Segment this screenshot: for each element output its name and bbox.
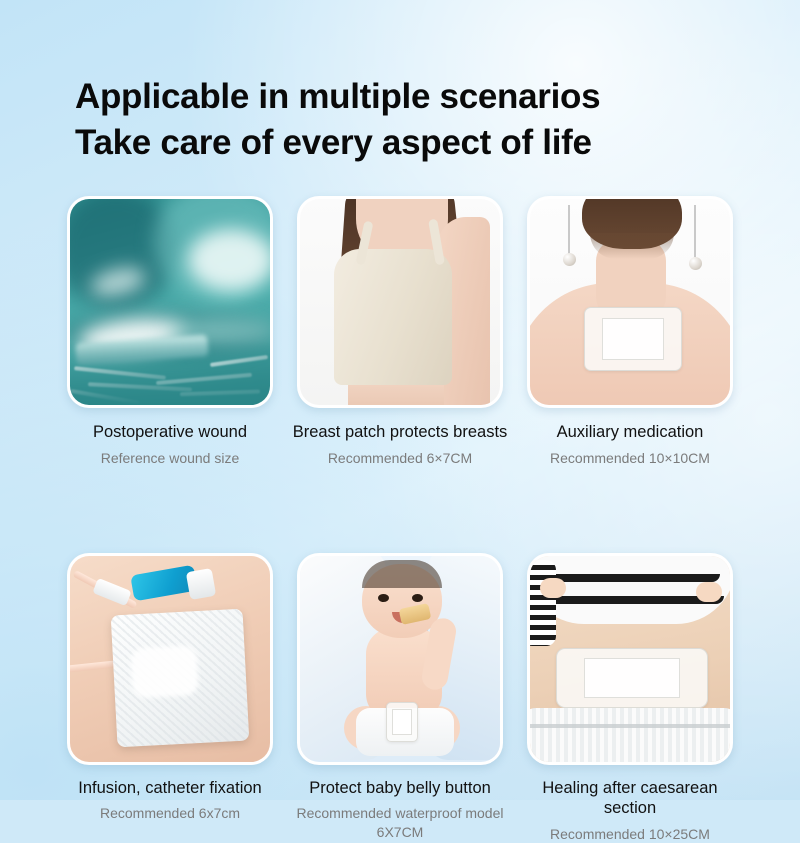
scenario-row-2: Infusion, catheter fixation Recommended …	[0, 553, 800, 843]
neck-patch-image	[530, 199, 730, 405]
card-title: Postoperative wound	[55, 422, 285, 443]
scenario-card-caesarean-healing[interactable]: Healing after caesarean section Recommen…	[530, 553, 730, 843]
scenario-card-auxiliary-medication[interactable]: Auxiliary medication Recommended 10×10CM	[530, 196, 730, 467]
woman-torso-image	[300, 199, 500, 405]
card-title: Auxiliary medication	[515, 422, 745, 443]
scenario-card-breast-patch[interactable]: Breast patch protects breasts Recommende…	[300, 196, 500, 467]
belly-patch	[386, 702, 418, 742]
earring-pearl-right	[689, 257, 702, 270]
card-subtitle: Recommended 10×10CM	[515, 449, 745, 467]
card-subtitle: Recommended 10×25CM	[515, 825, 745, 843]
card-subtitle: Recommended 6×7CM	[285, 449, 515, 467]
card-subtitle: Reference wound size	[55, 449, 285, 467]
card-caption: Infusion, catheter fixation Recommended …	[55, 778, 285, 823]
caesarean-patch	[556, 648, 708, 708]
card-caption: Protect baby belly button Recommended wa…	[285, 778, 515, 841]
card-caption: Auxiliary medication Recommended 10×10CM	[515, 422, 745, 467]
scenario-row-1: Postoperative wound Reference wound size	[0, 196, 800, 467]
card-subtitle: Recommended waterproof model 6X7CM	[285, 804, 515, 840]
wound-patch	[584, 307, 682, 371]
scenario-card-baby-belly-button[interactable]: Protect baby belly button Recommended wa…	[300, 553, 500, 843]
card-image-frame	[67, 196, 273, 408]
scenario-grid: Postoperative wound Reference wound size	[0, 196, 800, 843]
headline-line-2: Take care of every aspect of life	[75, 120, 735, 166]
card-subtitle: Recommended 6x7cm	[55, 804, 285, 822]
card-image-frame	[67, 553, 273, 765]
card-image-frame	[527, 196, 733, 408]
caesarean-patch-image	[530, 556, 730, 762]
card-caption: Breast patch protects breasts Recommende…	[285, 422, 515, 467]
card-image-frame	[527, 553, 733, 765]
card-title: Breast patch protects breasts	[285, 422, 515, 443]
card-caption: Postoperative wound Reference wound size	[55, 422, 285, 467]
catheter-dressing-image	[70, 556, 270, 762]
card-title: Protect baby belly button	[285, 778, 515, 799]
card-caption: Healing after caesarean section Recommen…	[515, 778, 745, 843]
baby-image	[300, 556, 500, 762]
earring-pearl-left	[563, 253, 576, 266]
scenario-card-postoperative-wound[interactable]: Postoperative wound Reference wound size	[70, 196, 270, 467]
infographic-page: Applicable in multiple scenarios Take ca…	[0, 0, 800, 800]
wound-dressing	[111, 608, 250, 747]
headline-line-1: Applicable in multiple scenarios	[75, 74, 735, 120]
scenario-card-infusion-catheter[interactable]: Infusion, catheter fixation Recommended …	[70, 553, 270, 843]
card-title: Healing after caesarean section	[515, 778, 745, 819]
page-title: Applicable in multiple scenarios Take ca…	[75, 74, 735, 166]
operating-room-image	[70, 199, 270, 405]
card-title: Infusion, catheter fixation	[55, 778, 285, 799]
card-image-frame	[297, 196, 503, 408]
card-image-frame	[297, 553, 503, 765]
